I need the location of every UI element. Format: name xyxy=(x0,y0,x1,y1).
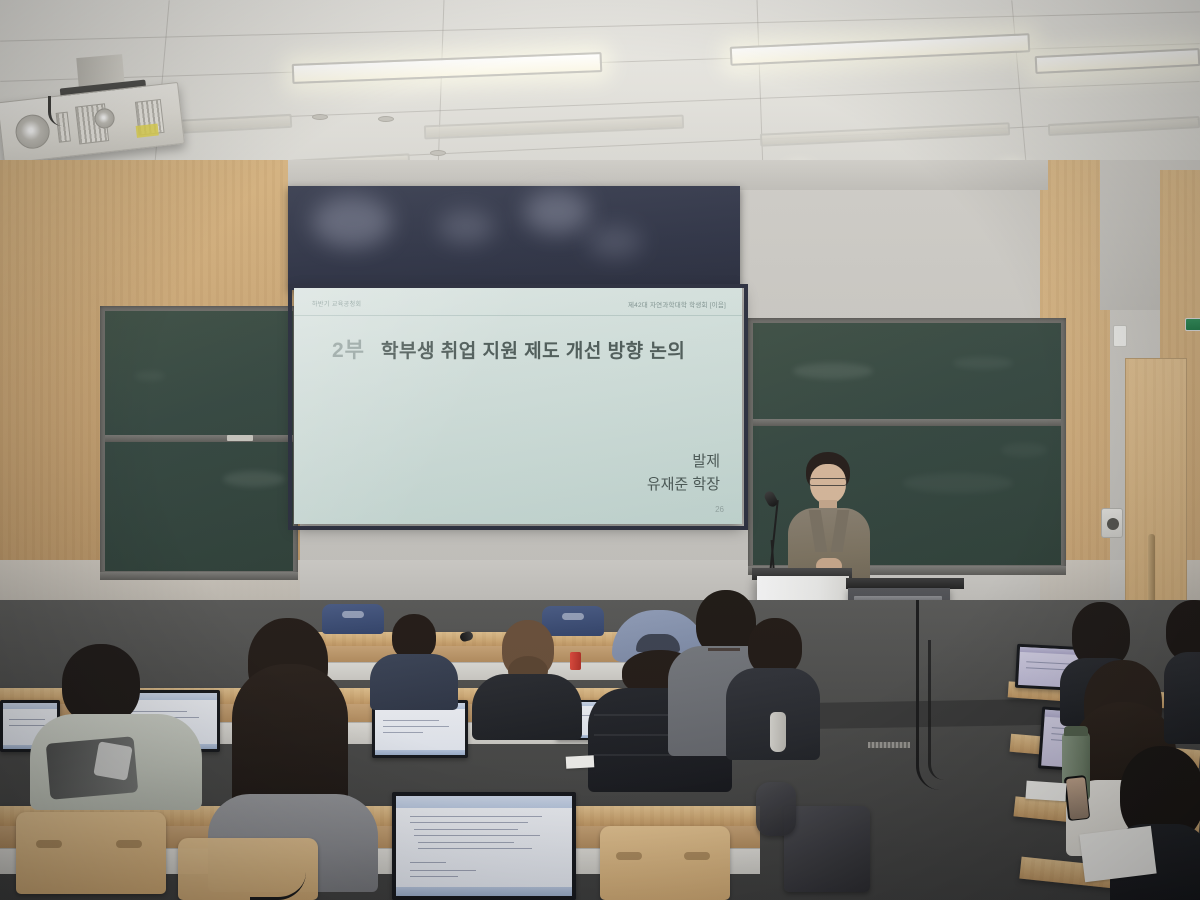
door-card-reader[interactable] xyxy=(1101,508,1123,538)
projection-screen-housing xyxy=(288,186,740,290)
slide-header-right: 제42대 자연과학대학 학생회 [이음] xyxy=(628,299,726,309)
dark-bottle[interactable] xyxy=(770,712,786,752)
presenter-glasses xyxy=(809,478,847,486)
slide-title-row: 2부 학부생 취업 지원 제도 개선 방향 논의 xyxy=(332,334,685,364)
slide-header-left: 하반기 교육공청회 xyxy=(312,299,361,308)
bag-strap xyxy=(756,782,796,836)
chalkboard-eraser[interactable] xyxy=(227,435,253,441)
slide-section-number: 2부 xyxy=(332,334,365,364)
sprinkler-head xyxy=(312,114,328,120)
slide-footer-role: 발제 xyxy=(647,451,720,474)
lecture-hall-photo: 하반기 교육공청회 제42대 자연과학대학 학생회 [이음] 2부 학부생 취업… xyxy=(0,0,1200,900)
slide-page-number: 26 xyxy=(715,505,724,514)
card-reader-sensor xyxy=(1107,518,1119,530)
student-gray-graphic-sweatshirt xyxy=(30,644,210,794)
student-torso xyxy=(370,654,458,710)
student-navy-jacket-front-row xyxy=(370,614,460,700)
sweatshirt-graphic-detail xyxy=(93,741,132,780)
floor-cable xyxy=(928,640,946,780)
backpack-on-floor[interactable] xyxy=(784,806,870,892)
slide-footer: 발제 유재준 학장 xyxy=(647,451,720,496)
slide-header-rule xyxy=(294,315,742,316)
projector-label-sticker xyxy=(136,123,159,137)
sprinkler-head xyxy=(430,150,446,156)
chair-wooden[interactable] xyxy=(600,826,730,900)
projection-screen: 하반기 교육공청회 제42대 자연과학대학 학생회 [이음] 2부 학부생 취업… xyxy=(294,288,742,524)
emergency-exit-sign xyxy=(1185,318,1200,331)
wall-light-switch[interactable] xyxy=(1113,325,1127,347)
student-torso xyxy=(472,674,582,740)
handout-paper[interactable] xyxy=(566,755,595,768)
slide-footer-name: 유재준 학장 xyxy=(647,474,720,497)
smartphone-on-desk[interactable] xyxy=(1064,775,1090,821)
chair-wooden[interactable] xyxy=(16,812,166,894)
student-black-hoodie xyxy=(472,620,584,730)
phone-screen xyxy=(1065,777,1088,820)
student-head xyxy=(62,644,140,724)
slide-title-text: 학부생 취업 지원 제도 개선 방향 논의 xyxy=(381,336,685,363)
floor-outlet-grate xyxy=(868,742,910,748)
student-partial-right-edge xyxy=(1164,600,1200,730)
student-torso xyxy=(1164,652,1200,744)
tumbler-cap[interactable] xyxy=(1064,726,1088,736)
projector-cable xyxy=(48,96,74,126)
slide-header: 하반기 교육공청회 제42대 자연과학대학 학생회 [이음] xyxy=(294,299,742,313)
handout-paper[interactable] xyxy=(1079,826,1156,882)
chalk-tray-left xyxy=(100,572,298,580)
chalkboard-left xyxy=(100,306,298,576)
handout-paper[interactable] xyxy=(1025,781,1066,802)
sprinkler-head xyxy=(378,116,394,122)
